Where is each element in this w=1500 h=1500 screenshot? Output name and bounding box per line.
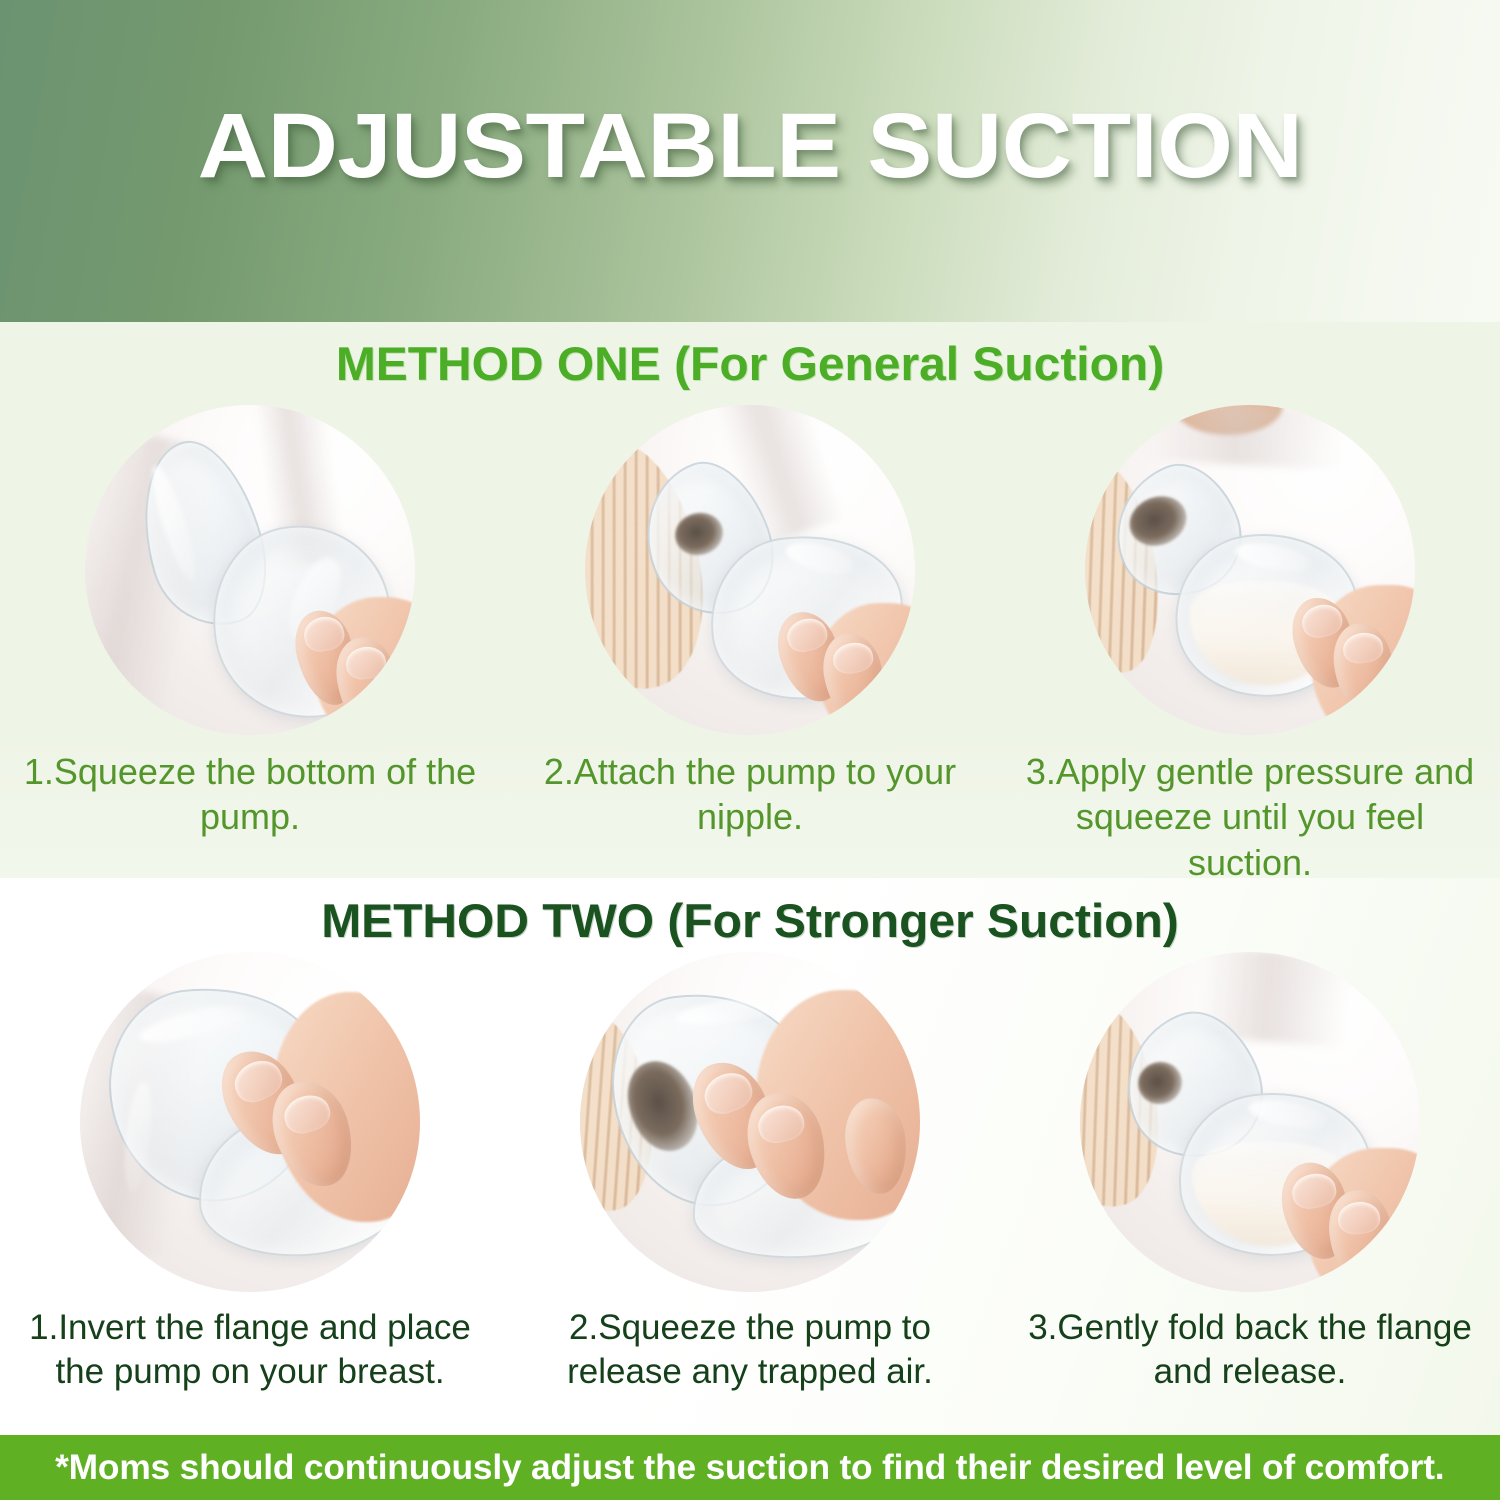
step-photo-m1-2 — [585, 405, 915, 735]
step-card: 1.Invert the flange and place the pump o… — [0, 952, 500, 1394]
shirt-fold — [1144, 405, 1347, 470]
page-title: ADJUSTABLE SUCTION — [0, 98, 1500, 195]
step-card: 3.Apply gentle pressure and squeeze unti… — [1000, 405, 1500, 885]
step-caption: 1.Squeeze the bottom of the pump. — [20, 749, 480, 840]
step-card: 3.Gently fold back the flange and releas… — [1000, 952, 1500, 1394]
method-two-heading: METHOD TWO (For Stronger Suction) — [0, 893, 1500, 948]
step-caption: 3.Apply gentle pressure and squeeze unti… — [1020, 749, 1480, 885]
step-card: 2.Attach the pump to your nipple. — [500, 405, 1000, 885]
step-caption: 1.Invert the flange and place the pump o… — [10, 1306, 490, 1394]
method-one-steps: 1.Squeeze the bottom of the pump. 2.Atta… — [0, 405, 1500, 885]
method-one-heading: METHOD ONE (For General Suction) — [0, 336, 1500, 391]
footer-note-bar: *Moms should continuously adjust the suc… — [0, 1435, 1500, 1500]
step-photo-m2-2 — [580, 952, 920, 1292]
infographic-page: ADJUSTABLE SUCTION METHOD ONE (For Gener… — [0, 0, 1500, 1500]
step-caption: 3.Gently fold back the flange and releas… — [1010, 1306, 1490, 1394]
step-photo-m1-3 — [1085, 405, 1415, 735]
step-photo-m2-1 — [80, 952, 420, 1292]
footer-note: *Moms should continuously adjust the suc… — [55, 1448, 1444, 1488]
header-banner: ADJUSTABLE SUCTION — [0, 0, 1500, 322]
step-photo-m2-3 — [1080, 952, 1420, 1292]
step-photo-m1-1 — [85, 405, 415, 735]
step-card: 2.Squeeze the pump to release any trappe… — [500, 952, 1000, 1394]
step-caption: 2.Squeeze the pump to release any trappe… — [510, 1306, 990, 1394]
method-two-steps: 1.Invert the flange and place the pump o… — [0, 952, 1500, 1394]
step-caption: 2.Attach the pump to your nipple. — [520, 749, 980, 840]
step-card: 1.Squeeze the bottom of the pump. — [0, 405, 500, 885]
